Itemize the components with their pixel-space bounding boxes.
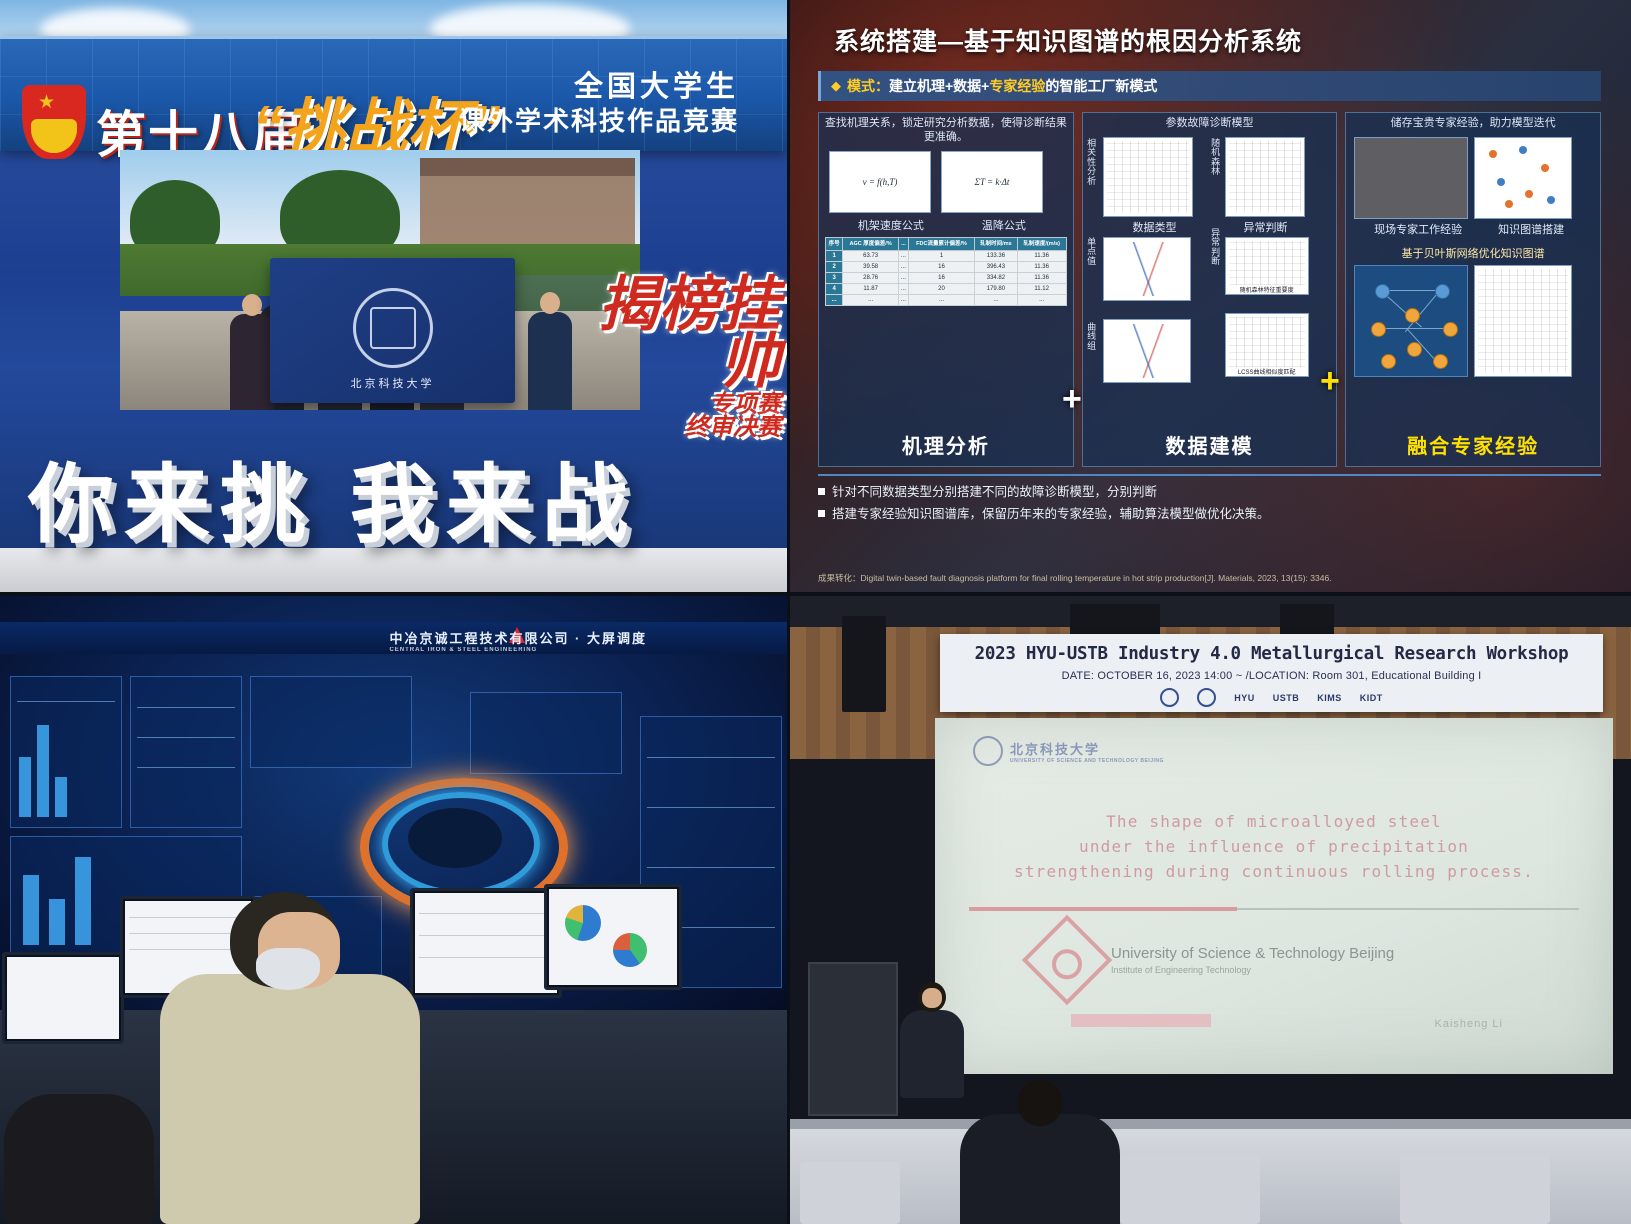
cell: ... xyxy=(899,261,909,272)
cell: ... xyxy=(899,272,909,283)
th-4: 轧制时间/ms xyxy=(975,237,1018,250)
column-expert-experience: 储存宝贵专家经验，助力模型迭代 现 xyxy=(1345,112,1601,467)
cell: ... xyxy=(899,294,909,305)
cell: 1 xyxy=(908,250,974,261)
table-header-row: 序号 AGC 厚度偏差/% ... FDC流量累计偏差/% 轧制时间/ms 轧制… xyxy=(826,237,1067,250)
column-data-modeling: 参数故障诊断模型 相关性分析 单点值 曲线组 随机森林 异常判断 数据类型 异常… xyxy=(1082,112,1338,467)
cell: 20 xyxy=(908,283,974,294)
bullet-square-icon xyxy=(818,510,825,517)
banner-logo-4: KIDT xyxy=(1360,693,1383,703)
campus-building xyxy=(420,172,635,250)
slide-title-line3: strengthening during continuous rolling … xyxy=(935,860,1613,885)
column3-body: 现场专家工作经验 知识图谱搭建 基于贝叶斯网络优化知识图谱 xyxy=(1346,133,1600,426)
org-cn: 北京科技大学 xyxy=(1010,742,1100,757)
panel-competition-banner: ★ 第十八届 “挑战杯” 全国大学生 课外学术科技作品竞赛 xyxy=(0,0,787,592)
th-2: ... xyxy=(899,237,909,250)
cell: 133.36 xyxy=(975,250,1018,261)
vlabel-correlation: 相关性分析 xyxy=(1085,139,1099,186)
ring-core xyxy=(408,808,502,868)
graph-bayesian-network xyxy=(1354,265,1468,377)
graph-knowledge-dots xyxy=(1474,137,1572,219)
slide-divider-rule xyxy=(969,908,1579,910)
cell: 4 xyxy=(826,283,843,294)
slide-subtitle-bar: ◆ 模式： 建立机理+数据+ 专家经验 的智能工厂新模式 xyxy=(818,71,1601,101)
table-row: 3 28.76 ... 16 334.82 11.36 xyxy=(826,272,1067,283)
plus-sign-1: + xyxy=(1062,380,1082,419)
cell: 11.87 xyxy=(843,283,899,294)
cell: 16 xyxy=(908,261,974,272)
banner-subtitle: DATE: OCTOBER 16, 2023 14:00 ~ /LOCATION… xyxy=(940,670,1603,682)
column2-footer: 数据建模 xyxy=(1083,426,1337,466)
photo-field-expert xyxy=(1354,137,1468,219)
column1-footer: 机理分析 xyxy=(819,426,1073,466)
panel-workshop-lecture: 2023 HYU-USTB Industry 4.0 Metallurgical… xyxy=(790,596,1631,1224)
monitor xyxy=(410,888,562,998)
slide-institute: Institute of Engineering Technology xyxy=(1111,965,1394,975)
cell: 16 xyxy=(908,272,974,283)
group-photo-scene: 北京科技大学 xyxy=(120,150,640,410)
banner-title: 2023 HYU-USTB Industry 4.0 Metallurgical… xyxy=(940,644,1603,664)
ustb-diamond-icon xyxy=(1022,915,1113,1006)
cell: ... xyxy=(1017,294,1066,305)
person xyxy=(528,312,572,410)
slide-bullets: 针对不同数据类型分别搭建不同的故障诊断模型，分别判断 搭建专家经验知识图谱库，保… xyxy=(818,482,1601,526)
bullet-item: 搭建专家经验知识图谱库，保留历年来的专家经验，辅助算法模型做优化决策。 xyxy=(818,504,1601,526)
monitor xyxy=(544,884,682,990)
chart-scatter xyxy=(1103,237,1191,301)
ceiling-strip xyxy=(790,596,1631,627)
banner-organizer: 全国大学生 课外学术科技作品竞赛 xyxy=(459,69,739,138)
bullet-text-2: 搭建专家经验知识图谱库，保留历年来的专家经验，辅助算法模型做优化决策。 xyxy=(832,504,1270,526)
slide-org-name: 北京科技大学 UNIVERSITY OF SCIENCE AND TECHNOL… xyxy=(1010,739,1164,764)
chart-lcss: LCSS曲线相似度匹配 xyxy=(1225,313,1309,377)
workshop-banner: 2023 HYU-USTB Industry 4.0 Metallurgical… xyxy=(940,634,1603,712)
university-seal xyxy=(353,288,433,368)
person xyxy=(230,314,274,410)
youth-league-emblem: ★ xyxy=(22,85,86,159)
cell: 39.58 xyxy=(843,261,899,272)
vlabel-random-forest: 随机森林 xyxy=(1209,139,1223,177)
cell: 28.76 xyxy=(843,272,899,283)
banner-logo-row: HYU USTB KIMS KIDT xyxy=(940,688,1603,707)
brand-en: CENTRAL IRON & STEEL ENGINEERING xyxy=(389,647,647,653)
university-flag: 北京科技大学 xyxy=(270,258,515,403)
foam-slogan: 你来挑 我来战 xyxy=(28,434,768,564)
cell: 1 xyxy=(826,250,843,261)
slide-org-logo: 北京科技大学 UNIVERSITY OF SCIENCE AND TECHNOL… xyxy=(973,736,1164,766)
banner-board: ★ 第十八届 “挑战杯” 全国大学生 课外学术科技作品竞赛 xyxy=(0,36,787,151)
slide-title-line2: under the influence of precipitation xyxy=(935,835,1613,860)
banner-org-line2: 课外学术科技作品竞赛 xyxy=(459,105,739,138)
th-5: 轧制速度/(m/s) xyxy=(1017,237,1066,250)
slide-citation: 成果转化：Digital twin-based fault diagnosis … xyxy=(818,572,1611,584)
column2-body: 相关性分析 单点值 曲线组 随机森林 异常判断 数据类型 异常判断 随机森林特征… xyxy=(1083,133,1337,426)
chart-curves xyxy=(1103,319,1191,383)
column1-header: 查找机理关系，锁定研究分析数据，使得诊断结果更准确。 xyxy=(819,113,1073,147)
cell: 11.36 xyxy=(1017,261,1066,272)
wall-screen xyxy=(250,676,412,768)
table-row: 2 39.58 ... 16 396.43 11.36 xyxy=(826,261,1067,272)
formula-card-2: ΣT = k·Δt xyxy=(941,151,1043,213)
vlabel-single-point: 单点值 xyxy=(1085,238,1099,266)
bullet-square-icon xyxy=(818,488,825,495)
wall-screen xyxy=(130,676,242,828)
column3-header: 储存宝贵专家经验，助力模型迭代 xyxy=(1346,113,1600,133)
th-0: 序号 xyxy=(826,237,843,250)
column-mechanism-analysis: 查找机理关系，锁定研究分析数据，使得诊断结果更准确。 v = f(h,T) ΣT… xyxy=(818,112,1074,467)
wall-screen xyxy=(470,692,622,774)
cell: ... xyxy=(826,294,843,305)
podium xyxy=(808,962,898,1116)
speaker-person xyxy=(900,978,964,1098)
banner-logo-3: KIMS xyxy=(1317,693,1342,703)
plus-sign-2: + xyxy=(1320,362,1340,401)
slide-divider xyxy=(818,474,1601,476)
subtitle-key: 模式： xyxy=(847,76,889,96)
caption-kg-build: 知识图谱搭建 xyxy=(1404,221,1631,237)
column1-body: v = f(h,T) ΣT = k·Δt 机架速度公式 温降公式 序号 AGC … xyxy=(819,147,1073,427)
operator-person xyxy=(160,894,420,1224)
cell: 179.80 xyxy=(975,283,1018,294)
audience-member xyxy=(960,1114,1120,1224)
cell: ... xyxy=(908,294,974,305)
banner-logo-1: HYU xyxy=(1234,693,1255,703)
desk-unit xyxy=(1120,1156,1260,1224)
cell: 11.12 xyxy=(1017,283,1066,294)
second-person xyxy=(4,1074,154,1224)
kg-canvas xyxy=(1359,270,1463,372)
cell: 11.36 xyxy=(1017,272,1066,283)
face-mask xyxy=(256,948,320,990)
chart-importance: 随机森林特征重要度 xyxy=(1225,237,1309,295)
wall-speaker xyxy=(842,616,886,712)
slide-three-columns: 查找机理关系，锁定研究分析数据，使得诊断结果更准确。 v = f(h,T) ΣT… xyxy=(818,112,1601,467)
slide-title-line1: The shape of microalloyed steel xyxy=(935,810,1613,835)
parameter-table: 序号 AGC 厚度偏差/% ... FDC流量累计偏差/% 轧制时间/ms 轧制… xyxy=(825,237,1067,306)
logo-circle-icon xyxy=(1160,688,1179,707)
special-track-text: 揭榜挂帅 专项赛 终审决赛 xyxy=(576,276,781,440)
cell: 2 xyxy=(826,261,843,272)
projection-screen: 北京科技大学 UNIVERSITY OF SCIENCE AND TECHNOL… xyxy=(935,718,1613,1074)
caption-bayesian-kg: 基于贝叶斯网络优化知识图谱 xyxy=(1346,245,1600,261)
formula-card-1: v = f(h,T) xyxy=(829,151,931,213)
org-en: UNIVERSITY OF SCIENCE AND TECHNOLOGY BEI… xyxy=(1010,758,1164,764)
slide-main-title: The shape of microalloyed steel under th… xyxy=(935,810,1613,884)
slide-title: 系统搭建—基于知识图谱的根因分析系统 xyxy=(834,22,1302,58)
panel-control-room: 中冶京诚工程技术有限公司 · 大屏调度 CENTRAL IRON & STEEL… xyxy=(0,596,787,1224)
cell: ... xyxy=(843,294,899,305)
th-1: AGC 厚度偏差/% xyxy=(843,237,899,250)
cell: ... xyxy=(899,283,909,294)
card-label-rf: 随机森林特征重要度 xyxy=(1226,285,1308,294)
slide-presenter: Kaisheng Li xyxy=(1435,1018,1504,1030)
cell: ... xyxy=(899,250,909,261)
cell: 334.82 xyxy=(975,272,1018,283)
slide-date-highlight xyxy=(1071,1014,1211,1027)
subtitle-pre: 建立机理+数据+ xyxy=(889,76,989,96)
table-row: 1 63.73 ... 1 133.36 11.36 xyxy=(826,250,1067,261)
chart-random-forest xyxy=(1225,137,1305,217)
slide-university: University of Science & Technology Beiji… xyxy=(1111,945,1394,962)
column3-footer: 融合专家经验 xyxy=(1346,426,1600,466)
desk-unit xyxy=(1400,1154,1550,1224)
th-3: FDC流量累计偏差/% xyxy=(908,237,974,250)
cell: 3 xyxy=(826,272,843,283)
bullet-item: 针对不同数据类型分别搭建不同的故障诊断模型，分别判断 xyxy=(818,482,1601,504)
ustb-mark-icon xyxy=(973,736,1003,766)
cell: 396.43 xyxy=(975,261,1018,272)
subtitle-post: 的智能工厂新模式 xyxy=(1045,76,1157,96)
cell: 11.36 xyxy=(1017,250,1066,261)
column2-header: 参数故障诊断模型 xyxy=(1083,113,1337,133)
panel-research-slide: 系统搭建—基于知识图谱的根因分析系统 ◆ 模式： 建立机理+数据+ 专家经验 的… xyxy=(790,0,1631,592)
banner-org-line1: 全国大学生 xyxy=(459,69,739,105)
graph-kg-detail xyxy=(1474,265,1572,377)
flag-caption: 北京科技大学 xyxy=(270,375,515,391)
vlabel-curve-set: 曲线组 xyxy=(1085,323,1099,351)
banner-logo-2: USTB xyxy=(1273,693,1300,703)
brand-cn: 中冶京诚工程技术有限公司 · 大屏调度 xyxy=(389,631,647,646)
chart-correlation xyxy=(1103,137,1193,217)
monitor xyxy=(2,952,124,1044)
slide-affiliation-block: University of Science & Technology Beiji… xyxy=(1035,928,1394,992)
logo-circle-icon xyxy=(1197,688,1216,707)
cell: ... xyxy=(975,294,1018,305)
red-headline: 揭榜挂帅 xyxy=(576,276,781,390)
subtitle-highlight: 专家经验 xyxy=(989,76,1045,96)
card-label-lcss: LCSS曲线相似度匹配 xyxy=(1226,367,1308,376)
bullet-text-1: 针对不同数据类型分别搭建不同的故障诊断模型，分别判断 xyxy=(832,482,1157,504)
table-row: 4 11.87 ... 20 179.80 11.12 xyxy=(826,283,1067,294)
table-row: ... ... ... ... ... ... xyxy=(826,294,1067,305)
photo-collage: ★ 第十八届 “挑战杯” 全国大学生 课外学术科技作品竞赛 xyxy=(0,0,1631,1224)
company-brand-text: 中冶京诚工程技术有限公司 · 大屏调度 CENTRAL IRON & STEEL… xyxy=(389,628,647,653)
wall-screen xyxy=(10,676,122,828)
desk-unit xyxy=(800,1162,900,1224)
cell: 63.73 xyxy=(843,250,899,261)
diamond-icon: ◆ xyxy=(831,78,841,94)
